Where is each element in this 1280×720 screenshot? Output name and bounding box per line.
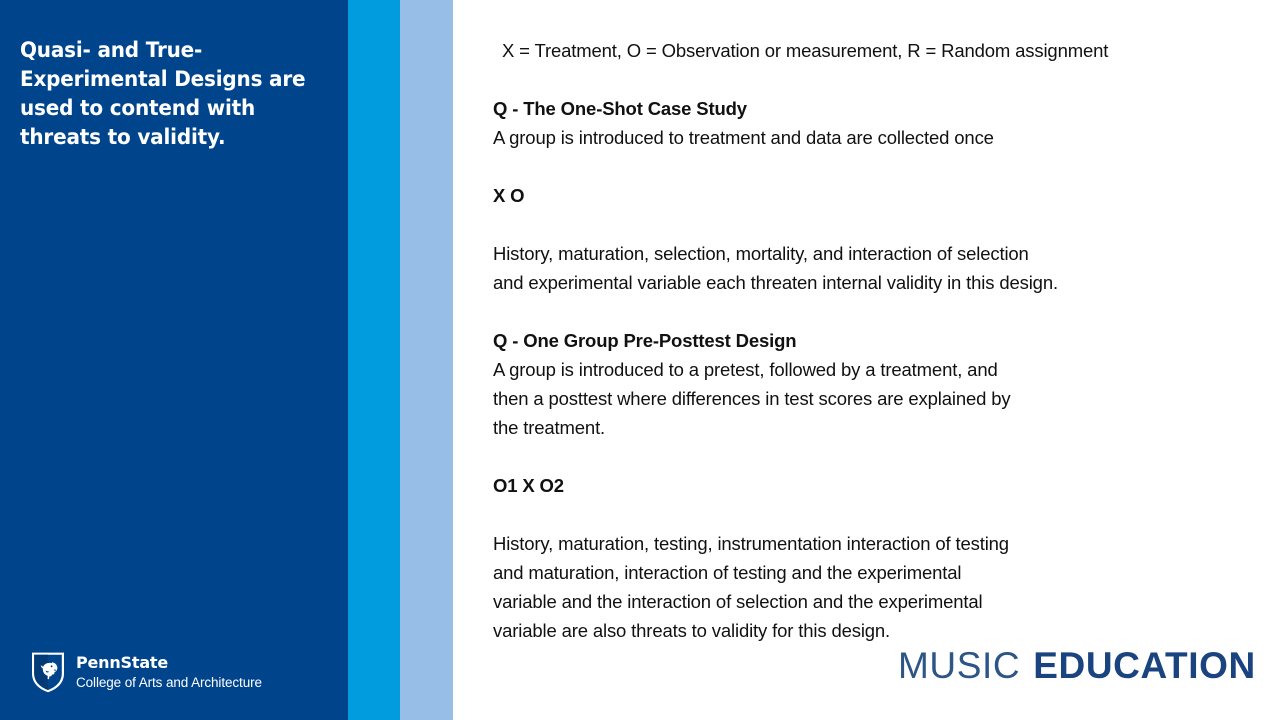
spacer	[493, 297, 1253, 326]
wordmark-music: MUSIC	[898, 646, 1020, 686]
penn-state-name: PennState	[76, 654, 262, 672]
accent-stripe-light-blue	[400, 0, 453, 720]
penn-state-logo: PennState College of Arts and Architectu…	[31, 651, 262, 693]
spacer	[493, 442, 1253, 471]
music-education-wordmark: MUSIC EDUCATION	[898, 646, 1256, 686]
spacer	[493, 210, 1253, 239]
accent-stripe-medium-blue	[348, 0, 400, 720]
notation-legend: X = Treatment, O = Observation or measur…	[493, 36, 1253, 65]
section-1-heading: Q - The One-Shot Case Study	[493, 94, 1253, 123]
slide-canvas: Quasi- and True-Experimental Designs are…	[0, 0, 1280, 720]
section-2-threats: History, maturation, testing, instrument…	[493, 529, 1253, 645]
section-1-threats: History, maturation, selection, mortalit…	[493, 239, 1253, 297]
spacer	[493, 152, 1253, 181]
penn-state-unit: College of Arts and Architecture	[76, 674, 262, 691]
slide-body: X = Treatment, O = Observation or measur…	[493, 36, 1253, 645]
section-2-description: A group is introduced to a pretest, foll…	[493, 355, 1253, 442]
wordmark-education: EDUCATION	[1033, 646, 1256, 686]
section-1-notation: X O	[493, 181, 1253, 210]
section-2-heading: Q - One Group Pre-Posttest Design	[493, 326, 1253, 355]
penn-state-shield-icon	[31, 651, 65, 693]
slide-title: Quasi- and True-Experimental Designs are…	[20, 36, 316, 152]
section-1-description: A group is introduced to treatment and d…	[493, 123, 1253, 152]
spacer	[493, 500, 1253, 529]
spacer	[493, 65, 1253, 94]
penn-state-wordmark: PennState College of Arts and Architectu…	[76, 654, 262, 691]
section-2-notation: O1 X O2	[493, 471, 1253, 500]
